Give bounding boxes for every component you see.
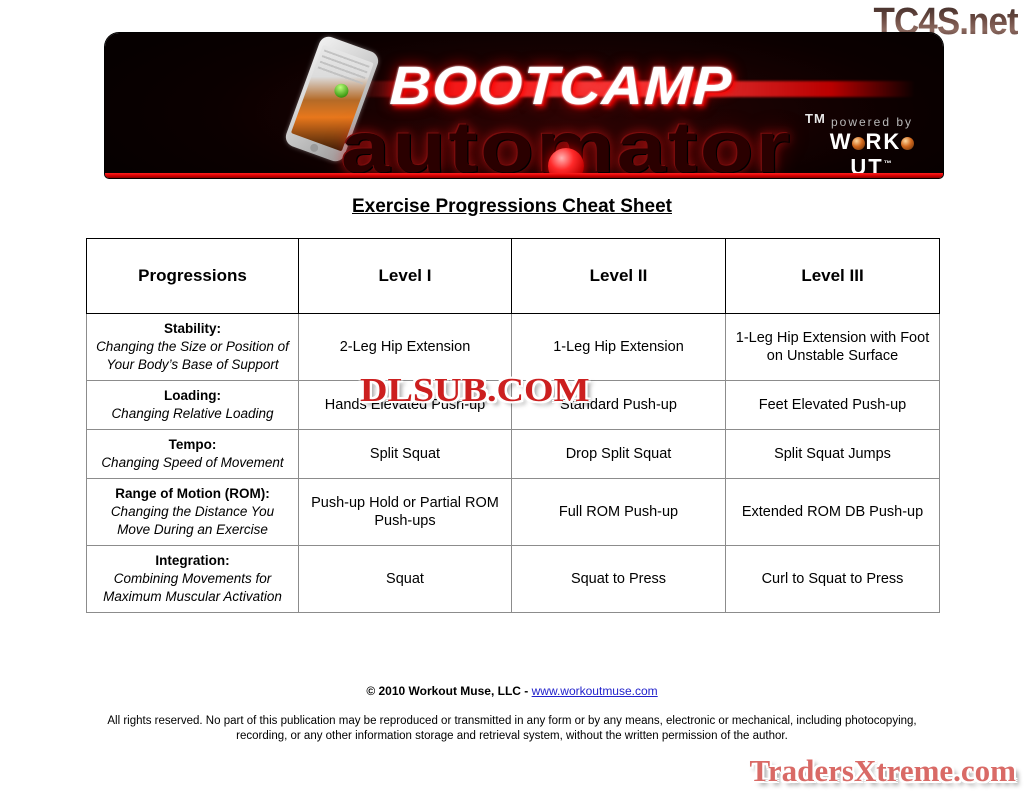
column-header-progressions: Progressions xyxy=(87,239,299,314)
category-title: Stability: xyxy=(95,320,290,338)
category-title: Loading: xyxy=(95,387,290,405)
column-header-level-1: Level I xyxy=(299,239,512,314)
category-description: Changing Relative Loading xyxy=(95,405,290,423)
cell-integration-level-2: Squat to Press xyxy=(512,546,726,613)
category-description: Combining Movements for Maximum Muscular… xyxy=(95,570,290,606)
cell-integration-level-3: Curl to Squat to Press xyxy=(726,546,940,613)
cell-rom-level-1: Push-up Hold or Partial ROM Push-ups xyxy=(299,479,512,546)
overlay-watermark-dlsub: DLSUB.COM xyxy=(360,372,590,410)
cell-tempo-level-3: Split Squat Jumps xyxy=(726,430,940,479)
table-row: Stability: Changing the Size or Position… xyxy=(87,314,940,381)
cell-stability-level-3: 1-Leg Hip Extension with Foot on Unstabl… xyxy=(726,314,940,381)
cell-stability-level-2: 1-Leg Hip Extension xyxy=(512,314,726,381)
column-header-level-3: Level III xyxy=(726,239,940,314)
copyright-line: © 2010 Workout Muse, LLC - www.workoutmu… xyxy=(0,684,1024,698)
powered-by-label: powered by xyxy=(817,115,927,129)
exercise-progressions-table: Progressions Level I Level II Level III … xyxy=(86,238,940,613)
cell-stability-level-1: 2-Leg Hip Extension xyxy=(299,314,512,381)
cell-tempo-level-1: Split Squat xyxy=(299,430,512,479)
category-title: Tempo: xyxy=(95,436,290,454)
cell-loading-level-3: Feet Elevated Push-up xyxy=(726,381,940,430)
column-header-level-2: Level II xyxy=(512,239,726,314)
banner-bottom-red-stripe xyxy=(105,173,943,178)
table-row: Range of Motion (ROM): Changing the Dist… xyxy=(87,479,940,546)
cell-rom-level-2: Full ROM Push-up xyxy=(512,479,726,546)
row-category-loading: Loading: Changing Relative Loading xyxy=(87,381,299,430)
rights-reserved-text: All rights reserved. No part of this pub… xyxy=(102,714,922,744)
workout-logo-o-dot-icon xyxy=(852,137,865,150)
cell-tempo-level-2: Drop Split Squat xyxy=(512,430,726,479)
phone-home-button-icon xyxy=(309,143,319,153)
row-category-range-of-motion: Range of Motion (ROM): Changing the Dist… xyxy=(87,479,299,546)
site-watermark-bottom: TradersXtreme.com xyxy=(749,753,1016,789)
row-category-tempo: Tempo: Changing Speed of Movement xyxy=(87,430,299,479)
category-title: Range of Motion (ROM): xyxy=(95,485,290,503)
table-row: Tempo: Changing Speed of Movement Split … xyxy=(87,430,940,479)
row-category-integration: Integration: Combining Movements for Max… xyxy=(87,546,299,613)
table-row: Integration: Combining Movements for Max… xyxy=(87,546,940,613)
category-description: Changing the Distance You Move During an… xyxy=(95,503,290,539)
bootcamp-automator-banner: BOOTCAMP automator TM powered by WRKUT™ … xyxy=(105,33,943,178)
workout-logo-o-dot-icon-2 xyxy=(901,137,914,150)
workoutmuse-link[interactable]: www.workoutmuse.com xyxy=(532,684,658,698)
powered-by-block: powered by WRKUT™ m · u · s · e xyxy=(817,115,927,178)
row-category-stability: Stability: Changing the Size or Position… xyxy=(87,314,299,381)
category-title: Integration: xyxy=(95,552,290,570)
workout-muse-logo: WRKUT™ xyxy=(817,131,927,178)
cell-rom-level-3: Extended ROM DB Push-up xyxy=(726,479,940,546)
category-description: Changing the Size or Position of Your Bo… xyxy=(95,338,290,374)
category-description: Changing Speed of Movement xyxy=(95,454,290,472)
copyright-text: © 2010 Workout Muse, LLC - xyxy=(366,684,531,698)
workout-logo-tm: ™ xyxy=(884,159,894,168)
cell-integration-level-1: Squat xyxy=(299,546,512,613)
workout-logo-part2: RK xyxy=(865,129,901,154)
page-title: Exercise Progressions Cheat Sheet xyxy=(0,196,1024,218)
table-header-row: Progressions Level I Level II Level III xyxy=(87,239,940,314)
workout-logo-part1: W xyxy=(830,129,853,154)
